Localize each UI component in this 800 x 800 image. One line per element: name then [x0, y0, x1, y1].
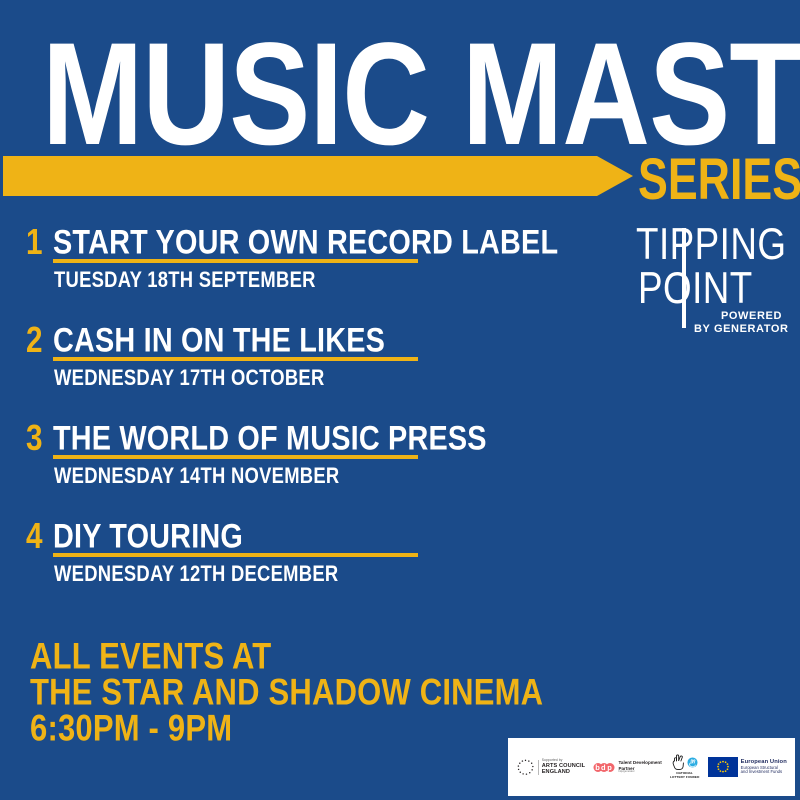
event-rule: [53, 455, 418, 459]
event-title: START YOUR OWN RECORD LABEL: [53, 222, 558, 262]
eu-flag-icon: [708, 757, 738, 777]
funder-name-line1: ARTS COUNCIL: [542, 763, 585, 769]
funder-name-line3: bdp/generator: [618, 771, 661, 774]
event-date: WEDNESDAY 17TH OCTOBER: [54, 365, 325, 391]
logo-line-point: POINT: [638, 266, 753, 311]
funder-name-line3: and Investment Funds: [741, 770, 787, 775]
arrow-bar-right-icon: [3, 156, 633, 196]
list-item[interactable]: 1 START YOUR OWN RECORD LABEL TUESDAY 18…: [0, 222, 470, 320]
event-title: CASH IN ON THE LIKES: [53, 320, 385, 360]
title-block: MUSIC MASTERS SERIES: [0, 0, 800, 210]
logo-tagline-line2: BY GENERATOR: [694, 323, 782, 336]
funders-panel: Supported by ARTS COUNCIL ENGLAND bdp Ta…: [508, 738, 795, 796]
event-number: 2: [26, 320, 43, 360]
list-item[interactable]: 2 CASH IN ON THE LIKES WEDNESDAY 17TH OC…: [0, 320, 470, 418]
page-title: MUSIC MASTERS: [42, 22, 732, 168]
funder-name-line2: ENGLAND: [542, 769, 585, 775]
funder-national-lottery-funded[interactable]: NATIONAL LOTTERY FUNDED: [670, 754, 699, 779]
series-label: SERIES: [638, 151, 800, 209]
poster-canvas: MUSIC MASTERS SERIES 1 START YOUR OWN RE…: [0, 0, 800, 800]
funder-name-line1: Talent Development: [618, 760, 661, 765]
event-rule: [53, 553, 418, 557]
event-date: WEDNESDAY 12TH DECEMBER: [54, 561, 338, 587]
funder-bdp-talent-development[interactable]: bdp Talent Development Partner bdp/gener…: [593, 760, 661, 775]
funder-label: Supported by ARTS COUNCIL ENGLAND: [542, 759, 585, 775]
event-heading: 1 START YOUR OWN RECORD LABEL: [0, 222, 470, 260]
logo-tagline: POWERED BY GENERATOR: [694, 310, 782, 336]
funder-label: European Union European Structural and I…: [741, 759, 787, 775]
event-list: 1 START YOUR OWN RECORD LABEL TUESDAY 18…: [0, 222, 470, 614]
funder-caption-line2: LOTTERY FUNDED: [670, 776, 699, 780]
funder-european-union[interactable]: European Union European Structural and I…: [708, 757, 787, 777]
event-heading: 3 THE WORLD OF MUSIC PRESS: [0, 418, 470, 456]
venue-line-3: 6:30PM - 9PM: [30, 708, 472, 748]
list-item[interactable]: 3 THE WORLD OF MUSIC PRESS WEDNESDAY 14T…: [0, 418, 470, 516]
svg-text:d: d: [601, 763, 606, 772]
tipping-point-logo[interactable]: TIPPING POINT POWERED BY GENERATOR: [634, 222, 784, 334]
event-date: TUESDAY 18TH SEPTEMBER: [54, 267, 316, 293]
event-date: WEDNESDAY 14TH NOVEMBER: [54, 463, 339, 489]
venue-info: ALL EVENTS AT THE STAR AND SHADOW CINEMA…: [30, 636, 500, 744]
lottery-badge-icon: [687, 757, 698, 768]
list-item[interactable]: 4 DIY TOURING WEDNESDAY 12TH DECEMBER: [0, 516, 470, 614]
event-title: THE WORLD OF MUSIC PRESS: [53, 418, 487, 458]
event-number: 3: [26, 418, 43, 458]
logo-line-tipping: TIPPING: [636, 222, 786, 267]
logo-divider: [538, 760, 539, 775]
funder-label: Talent Development Partner bdp/generator: [618, 760, 661, 773]
logo-tagline-line1: POWERED: [694, 310, 782, 323]
funder-arts-council-england[interactable]: Supported by ARTS COUNCIL ENGLAND: [516, 758, 585, 777]
series-row: SERIES: [0, 156, 800, 200]
event-heading: 4 DIY TOURING: [0, 516, 470, 554]
event-rule: [53, 259, 418, 263]
funder-label: NATIONAL LOTTERY FUNDED: [670, 772, 699, 779]
event-rule: [53, 357, 418, 361]
event-number: 4: [26, 516, 43, 556]
dotted-circle-icon: [516, 758, 535, 777]
svg-text:p: p: [608, 763, 613, 772]
event-heading: 2 CASH IN ON THE LIKES: [0, 320, 470, 358]
crossed-fingers-icon: [672, 754, 685, 771]
event-number: 1: [26, 222, 43, 262]
bdp-roundel-icon: bdp: [593, 760, 615, 775]
event-title: DIY TOURING: [53, 516, 243, 556]
svg-text:b: b: [596, 763, 601, 772]
lottery-marks: [672, 754, 698, 771]
